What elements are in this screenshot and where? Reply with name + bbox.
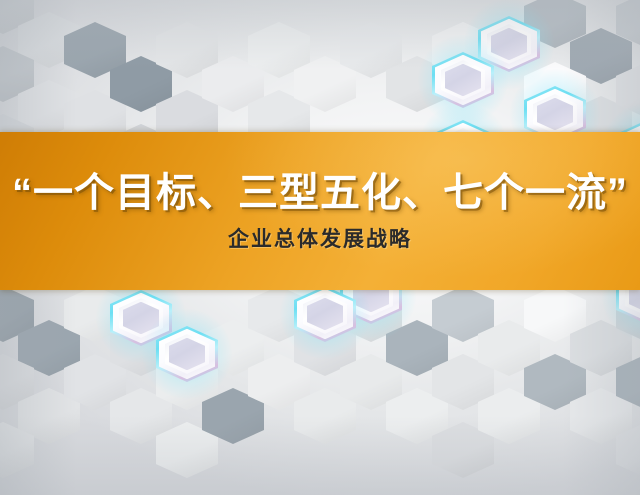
slide-title: “一个目标、三型五化、七个一流” xyxy=(12,173,628,213)
slide-subtitle: 企业总体发展战略 xyxy=(228,229,412,250)
presentation-slide: “一个目标、三型五化、七个一流” 企业总体发展战略 xyxy=(0,0,640,495)
title-band: “一个目标、三型五化、七个一流” 企业总体发展战略 xyxy=(0,132,640,290)
title-band-content: “一个目标、三型五化、七个一流” 企业总体发展战略 xyxy=(0,132,640,290)
